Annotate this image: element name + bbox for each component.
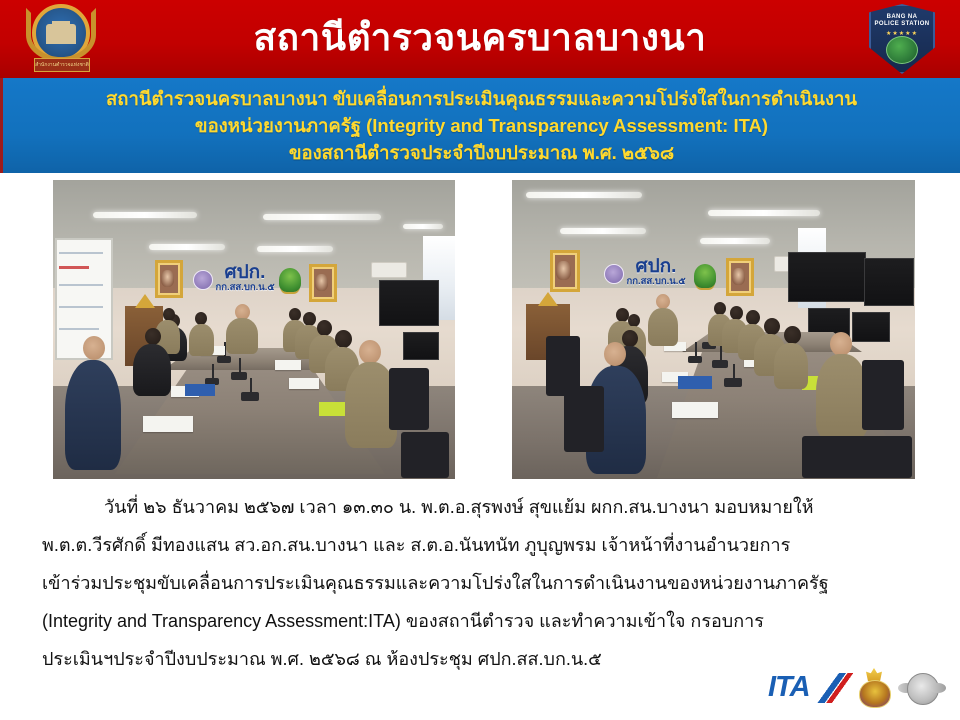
person-head bbox=[622, 330, 638, 347]
whiteboard-marking bbox=[59, 266, 89, 269]
ceiling-light bbox=[526, 192, 642, 198]
bang-na-police-badge-icon: BANG NA POLICE STATION ★★★★★ bbox=[869, 4, 935, 74]
table-microphone bbox=[241, 392, 259, 401]
ita-logo-swoosh bbox=[812, 673, 853, 703]
police-emblem-wing-right bbox=[930, 683, 946, 693]
wall-monitor bbox=[788, 252, 866, 302]
meeting-photo-left: ศปก. กก.สส.บก.น.๕ bbox=[53, 180, 455, 479]
meeting-room-scene-left: ศปก. กก.สส.บก.น.๕ bbox=[53, 180, 455, 479]
table-microphone bbox=[688, 356, 702, 363]
document-on-table bbox=[289, 378, 319, 389]
person-head bbox=[145, 328, 161, 345]
document-on-table bbox=[672, 402, 718, 418]
office-chair bbox=[401, 432, 449, 478]
blue-folder bbox=[678, 376, 712, 389]
body-line-3: เข้าร่วมประชุมขับเคลื่อนการประเมินคุณธรร… bbox=[42, 564, 922, 602]
badge-stars: ★★★★★ bbox=[869, 30, 935, 37]
photo-row: ศปก. กก.สส.บก.น.๕ bbox=[0, 180, 960, 480]
body-line-5-text: ประเมินฯประจำปีงบประมาณ พ.ศ. ๒๕๖๘ ณ ห้อง… bbox=[42, 649, 602, 669]
ceiling-light bbox=[257, 246, 333, 252]
royal-thai-police-emblem-icon bbox=[902, 668, 942, 708]
person-officer bbox=[816, 354, 868, 438]
footer-logo-row: ITA bbox=[768, 664, 942, 712]
person-officer bbox=[648, 308, 678, 346]
wall-monitor bbox=[379, 280, 439, 326]
office-chair bbox=[802, 436, 912, 478]
royal-garuda-emblem-icon bbox=[857, 668, 891, 708]
whiteboard-line bbox=[59, 328, 99, 330]
table-microphone bbox=[724, 378, 742, 387]
subtitle-line-1: สถานีตำรวจนครบาลบางนา ขับเคลื่อนการประเม… bbox=[106, 85, 857, 112]
person-attendee bbox=[65, 360, 121, 470]
wall-sign-big: ศปก. bbox=[205, 264, 285, 282]
person-officer bbox=[774, 343, 808, 389]
wall-sign-small: กก.สส.บก.น.๕ bbox=[205, 282, 285, 293]
royal-portrait-frame bbox=[309, 264, 337, 302]
badge-globe bbox=[886, 36, 918, 64]
desk-monitor bbox=[403, 332, 439, 360]
subtitle-line-2: ของหน่วยงานภาครัฐ (Integrity and Transpa… bbox=[195, 112, 768, 139]
ita-logo-icon: ITA bbox=[768, 669, 846, 707]
office-chair bbox=[564, 386, 604, 452]
person-head bbox=[784, 326, 801, 344]
wall-sign-text: ศปก. กก.สส.บก.น.๕ bbox=[616, 258, 696, 287]
ceiling-light bbox=[403, 224, 443, 229]
page-title: สถานีตำรวจนครบาลบางนา bbox=[140, 0, 820, 78]
person-head bbox=[764, 318, 780, 335]
whiteboard-line bbox=[59, 284, 103, 286]
wall-sign-big: ศปก. bbox=[616, 258, 696, 276]
body-paragraph: วันที่ ๒๖ ธันวาคม ๒๕๖๗ เวลา ๑๓.๓๐ น. พ.ต… bbox=[42, 488, 922, 678]
meeting-room-scene-right: ศปก. กก.สส.บก.น.๕ bbox=[512, 180, 915, 479]
person-head bbox=[656, 294, 670, 309]
table-microphone bbox=[712, 360, 728, 368]
ceiling-light bbox=[708, 210, 820, 216]
document-on-table bbox=[275, 360, 301, 370]
person-head bbox=[730, 306, 743, 320]
meeting-photo-right: ศปก. กก.สส.บก.น.๕ bbox=[512, 180, 915, 479]
badge-text: BANG NA POLICE STATION bbox=[869, 14, 935, 28]
body-line-4-text: (Integrity and Transparency Assessment:I… bbox=[42, 611, 764, 631]
royal-thai-police-seal-icon: สำนักงานตำรวจแห่งชาติ bbox=[24, 2, 100, 74]
air-conditioner bbox=[371, 262, 407, 278]
ceiling-light bbox=[560, 228, 646, 234]
wall-sign-text: ศปก. กก.สส.บก.น.๕ bbox=[205, 264, 285, 293]
office-chair bbox=[389, 368, 429, 430]
badge-line-1: BANG NA bbox=[887, 14, 918, 20]
person-officer bbox=[189, 324, 214, 356]
person-head bbox=[746, 310, 760, 325]
table-microphone bbox=[231, 372, 247, 380]
header-blue-band: สถานีตำรวจนครบาลบางนา ขับเคลื่อนการประเม… bbox=[0, 78, 960, 173]
person-head bbox=[83, 336, 105, 360]
royal-portrait-frame bbox=[550, 250, 580, 292]
table-microphone bbox=[217, 356, 231, 363]
ceiling-light bbox=[263, 214, 381, 220]
body-line-1-text: วันที่ ๒๖ ธันวาคม ๒๕๖๗ เวลา ๑๓.๓๐ น. พ.ต… bbox=[104, 497, 814, 517]
body-line-1: วันที่ ๒๖ ธันวาคม ๒๕๖๗ เวลา ๑๓.๓๐ น. พ.ต… bbox=[42, 488, 922, 526]
wall-emblem-green bbox=[694, 264, 716, 288]
whiteboard-line bbox=[59, 252, 103, 254]
body-line-3-text: เข้าร่วมประชุมขับเคลื่อนการประเมินคุณธรร… bbox=[42, 573, 829, 593]
ita-logo-label: ITA bbox=[768, 671, 810, 703]
office-chair bbox=[862, 360, 904, 430]
body-line-2: พ.ต.ต.วีรศักดิ์ มีทองแสน สว.อก.สน.บางนา … bbox=[42, 526, 922, 564]
wall-sign-small: กก.สส.บก.น.๕ bbox=[616, 276, 696, 287]
person-attendee bbox=[133, 344, 171, 396]
person-officer bbox=[226, 318, 258, 354]
person-head bbox=[830, 332, 852, 356]
seal-banner-text: สำนักงานตำรวจแห่งชาติ bbox=[34, 58, 90, 72]
wall-emblem-green bbox=[279, 268, 301, 292]
ceiling-light bbox=[93, 212, 197, 218]
body-line-2-text: พ.ต.ต.วีรศักดิ์ มีทองแสน สว.อก.สน.บางนา … bbox=[42, 535, 790, 555]
document-on-table bbox=[143, 416, 193, 432]
badge-line-2: POLICE STATION bbox=[874, 21, 929, 27]
person-head bbox=[359, 340, 381, 364]
garuda-body bbox=[859, 680, 891, 708]
royal-portrait-frame bbox=[155, 260, 183, 298]
person-head bbox=[604, 342, 626, 366]
desk-monitor bbox=[852, 312, 890, 342]
whiteboard-line bbox=[59, 306, 103, 308]
subtitle-line-3: ของสถานีตำรวจประจำปีงบประมาณ พ.ศ. ๒๕๖๘ bbox=[289, 139, 674, 166]
seal-wreath bbox=[26, 8, 96, 62]
blue-folder bbox=[185, 384, 215, 396]
person-head bbox=[317, 320, 332, 336]
royal-portrait-frame bbox=[726, 258, 754, 296]
person-head bbox=[335, 330, 352, 348]
wall-monitor bbox=[864, 258, 914, 306]
ceiling-light bbox=[700, 238, 770, 244]
body-line-4: (Integrity and Transparency Assessment:I… bbox=[42, 602, 922, 640]
header-red-band: สำนักงานตำรวจแห่งชาติ สถานีตำรวจนครบาลบา… bbox=[0, 0, 960, 78]
person-head bbox=[303, 312, 316, 326]
ceiling-light bbox=[149, 244, 225, 250]
